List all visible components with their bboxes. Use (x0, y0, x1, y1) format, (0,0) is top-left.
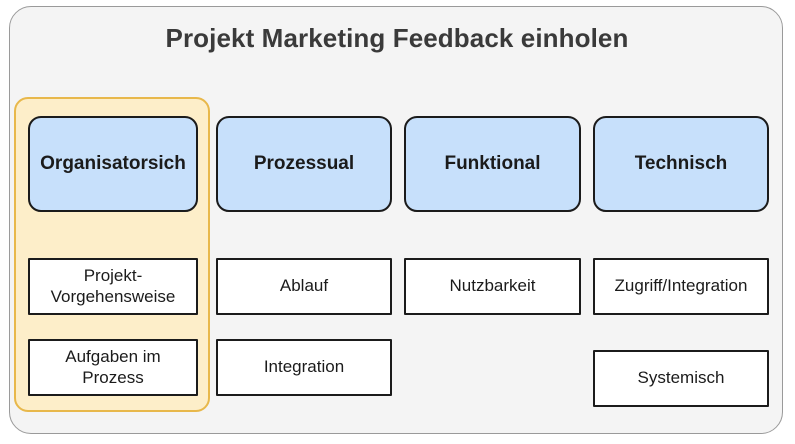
item-aufgaben-im-prozess[interactable]: Aufgaben im Prozess (28, 339, 198, 396)
item-systemisch[interactable]: Systemisch (593, 350, 769, 407)
item-integration[interactable]: Integration (216, 339, 392, 396)
column-header-organisatorsich[interactable]: Organisatorsich (28, 116, 198, 212)
item-ablauf[interactable]: Ablauf (216, 258, 392, 315)
item-nutzbarkeit[interactable]: Nutzbarkeit (404, 258, 581, 315)
item-zugriff-integration[interactable]: Zugriff/Integration (593, 258, 769, 315)
item-projekt-vorgehensweise[interactable]: Projekt-Vorgehensweise (28, 258, 198, 315)
column-header-funktional[interactable]: Funktional (404, 116, 581, 212)
column-header-technisch[interactable]: Technisch (593, 116, 769, 212)
column-header-prozessual[interactable]: Prozessual (216, 116, 392, 212)
page-title: Projekt Marketing Feedback einholen (10, 23, 784, 54)
diagram-canvas: Projekt Marketing Feedback einholen Orga… (0, 0, 795, 444)
